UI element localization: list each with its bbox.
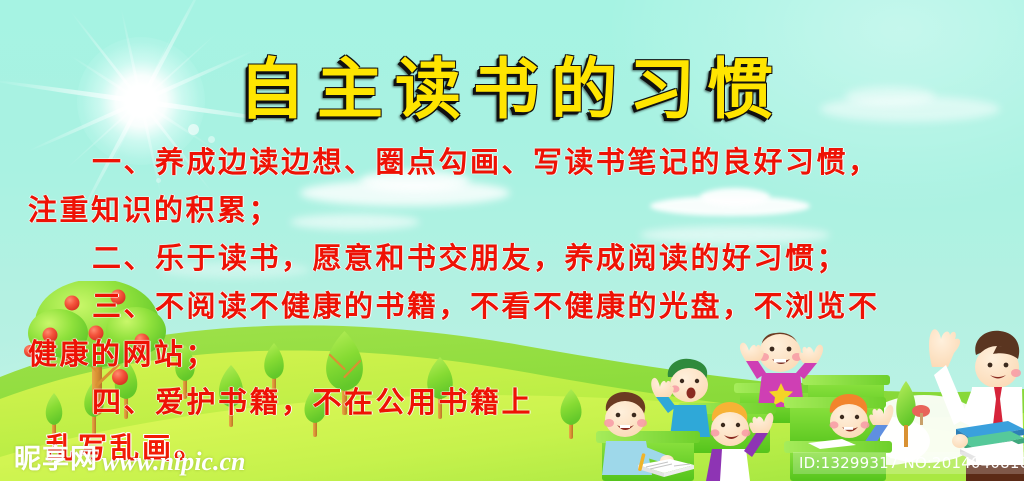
- rule-line-1-cont: 注重知识的积累；: [28, 186, 996, 234]
- poster-body: 一、养成边读边想、圈点勾画、写读书笔记的良好习惯， 注重知识的积累； 二、乐于读…: [28, 138, 996, 426]
- rule-line-4-cont: 乱写乱画。: [46, 425, 206, 467]
- rule-line-3: 三、不阅读不健康的书籍，不看不健康的光盘，不浏览不: [28, 282, 996, 330]
- rule-line-4: 四、爱护书籍，不在公用书籍上: [28, 378, 996, 426]
- poster-canvas: 自主读书的习惯 一、养成边读边想、圈点勾画、写读书笔记的良好习惯， 注重知识的积…: [0, 0, 1024, 481]
- rule-line-3-cont: 健康的网站；: [28, 330, 996, 378]
- school-desk: [784, 439, 892, 481]
- rule-line-2: 二、乐于读书，愿意和书交朋友，养成阅读的好习惯；: [28, 234, 996, 282]
- rule-line-1: 一、养成边读边想、圈点勾画、写读书笔记的良好习惯，: [28, 138, 996, 186]
- poster-title: 自主读书的习惯: [0, 36, 1024, 132]
